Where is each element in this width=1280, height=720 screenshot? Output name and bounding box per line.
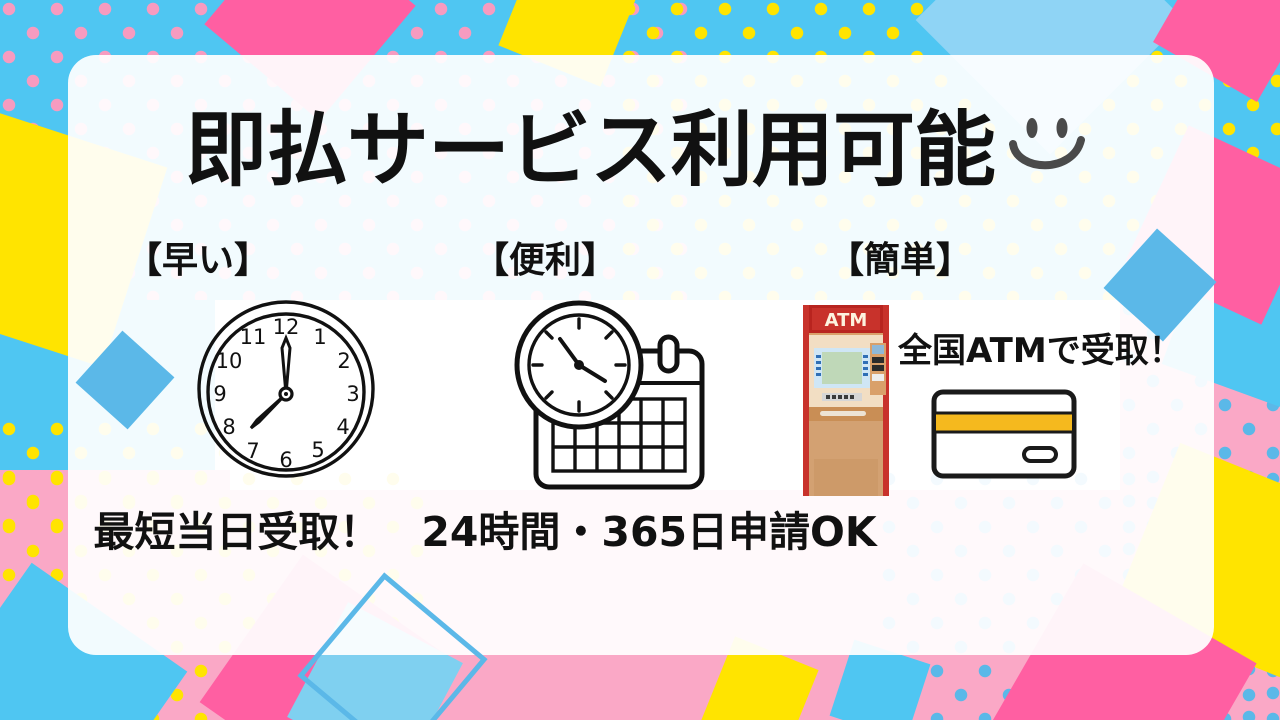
svg-text:1: 1 [313, 325, 326, 349]
svg-text:7: 7 [246, 439, 259, 463]
svg-text:8: 8 [222, 415, 235, 439]
feature-label-convenient: 【便利】 [473, 243, 617, 279]
svg-text:3: 3 [346, 382, 359, 406]
svg-text:6: 6 [279, 448, 292, 472]
feature-label-easy: 【簡単】 [828, 243, 972, 279]
feature-column-easy: 【簡単】 [828, 243, 972, 279]
feature-column-convenient: 【便利】 [473, 243, 617, 279]
smiley-face-icon [999, 110, 1095, 196]
wall-clock-icon: 12 1 2 3 4 5 6 7 8 9 10 11 [196, 292, 376, 492]
page-title-text: 即払サービス利用可能 [185, 103, 995, 198]
svg-text:9: 9 [213, 382, 226, 406]
feature-label-fast: 【早い】 [126, 243, 270, 279]
feature-column-fast: 【早い】 [126, 243, 270, 279]
svg-text:10: 10 [216, 349, 243, 373]
bottom-tagline: 最短当日受取！ 24時間・365日申請OK [0, 512, 1280, 553]
atm-sign-label: ATM [825, 310, 868, 331]
atm-machine-icon: ATM [800, 303, 892, 503]
svg-text:2: 2 [337, 349, 350, 373]
bank-card-icon [930, 388, 1078, 485]
calendar-clock-icon [512, 295, 722, 500]
atm-caption: 全国ATMで受取！ [898, 334, 1183, 368]
svg-text:4: 4 [336, 415, 349, 439]
page-title: 即払サービス利用可能 [0, 110, 1280, 196]
svg-text:11: 11 [240, 325, 267, 349]
svg-text:5: 5 [311, 438, 324, 462]
poster-canvas: 即払サービス利用可能 【早い】 【便利】 【簡単】 12 [0, 0, 1280, 720]
